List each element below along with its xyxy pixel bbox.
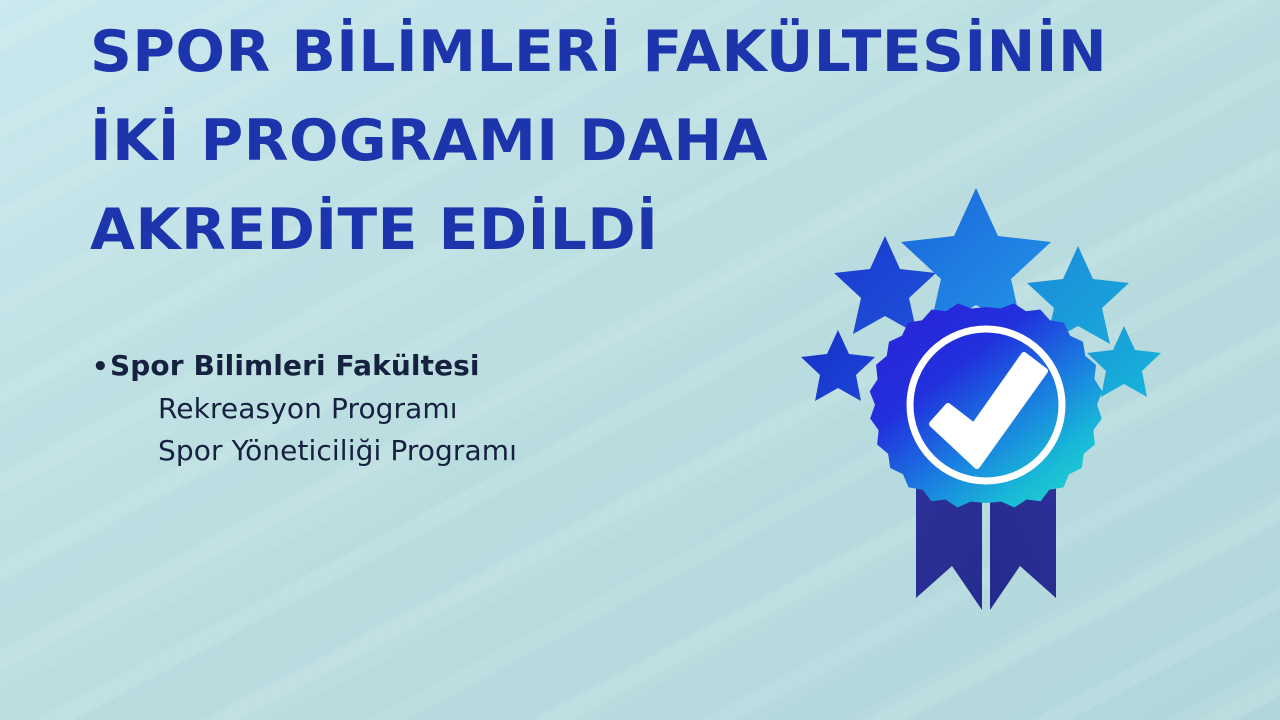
list-item: • Spor Bilimleri Fakültesi xyxy=(92,345,792,388)
headline-line-1: SPOR BİLİMLERİ FAKÜLTESİNİN xyxy=(90,8,1212,97)
headline-line-2: İKİ PROGRAMI DAHA xyxy=(90,97,1212,186)
program-name-1: Rekreasyon Programı xyxy=(158,388,792,430)
star-far-left-icon xyxy=(801,330,875,401)
faculty-name: Spor Bilimleri Fakültesi xyxy=(110,345,480,387)
program-list: • Spor Bilimleri Fakültesi Rekreasyon Pr… xyxy=(92,345,792,472)
bullet-point-icon: • xyxy=(92,346,110,388)
accreditation-badge-illustration xyxy=(790,178,1200,618)
rosette-medal xyxy=(870,303,1103,507)
program-name-2: Spor Yöneticiliği Programı xyxy=(158,430,792,472)
poster-canvas: SPOR BİLİMLERİ FAKÜLTESİNİN İKİ PROGRAMI… xyxy=(0,0,1280,720)
